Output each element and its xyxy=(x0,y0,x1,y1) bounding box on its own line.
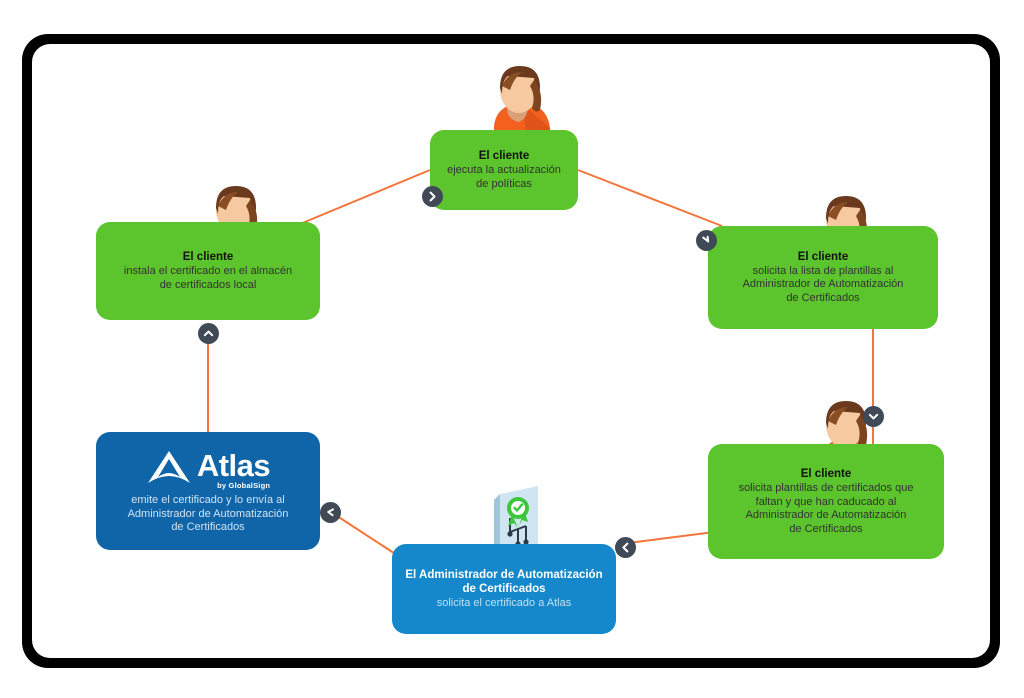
node-atlas-emite-certificado[interactable]: Atlas by GlobalSign emite el certificado… xyxy=(96,432,320,550)
node-body: solicita el certificado a Atlas xyxy=(437,597,572,611)
marker-chevron-left-icon xyxy=(615,537,636,558)
edge-caducadas-to-administrador xyxy=(620,531,722,544)
node-body: ejecuta la actualización de políticas xyxy=(447,164,561,191)
chevron-up-icon xyxy=(203,328,214,339)
node-instala-certificado[interactable]: El cliente instala el certificado en el … xyxy=(96,222,320,320)
node-ejecuta-politicas[interactable]: El cliente ejecuta la actualización de p… xyxy=(430,130,578,210)
node-body: solicita plantillas de certificados que … xyxy=(739,482,914,536)
node-title: El cliente xyxy=(479,149,530,163)
marker-chevron-up-icon xyxy=(198,323,219,344)
diagram-frame: El cliente ejecuta la actualización de p… xyxy=(22,34,1000,668)
node-solicita-lista-plantillas[interactable]: El cliente solicita la lista de plantill… xyxy=(708,226,938,329)
node-body: instala el certificado en el almacén de … xyxy=(124,265,292,292)
atlas-logo-icon: Atlas by GlobalSign xyxy=(146,450,270,490)
atlas-arch-icon xyxy=(146,450,192,488)
edge-administrador-to-atlas xyxy=(334,514,400,557)
chevron-down-right-icon xyxy=(701,235,712,246)
chevron-right-icon xyxy=(427,191,438,202)
node-title: El cliente xyxy=(801,467,852,481)
node-title: El Administrador de Automatización de Ce… xyxy=(405,568,602,596)
edge-instala-to-ejecuta xyxy=(300,170,430,224)
marker-chevron-down-icon xyxy=(863,406,884,427)
node-body: solicita la lista de plantillas al Admin… xyxy=(743,265,904,306)
marker-chevron-down-right-icon xyxy=(696,230,717,251)
node-solicita-plantillas-caducadas[interactable]: El cliente solicita plantillas de certif… xyxy=(708,444,944,559)
marker-chevron-left-up-icon xyxy=(320,502,341,523)
marker-chevron-right-icon xyxy=(422,186,443,207)
node-title: El cliente xyxy=(798,250,849,264)
node-body: emite el certificado y lo envía al Admin… xyxy=(128,494,289,535)
chevron-left-up-icon xyxy=(325,507,336,518)
edge-ejecuta-to-lista xyxy=(578,170,722,226)
node-administrador-solicita-certificado[interactable]: El Administrador de Automatización de Ce… xyxy=(392,544,616,634)
chevron-down-icon xyxy=(868,411,879,422)
atlas-wordmark: Atlas by GlobalSign xyxy=(197,450,270,490)
chevron-left-icon xyxy=(620,542,631,553)
node-title: El cliente xyxy=(183,250,234,264)
diagram-canvas: El cliente ejecuta la actualización de p… xyxy=(32,44,990,658)
